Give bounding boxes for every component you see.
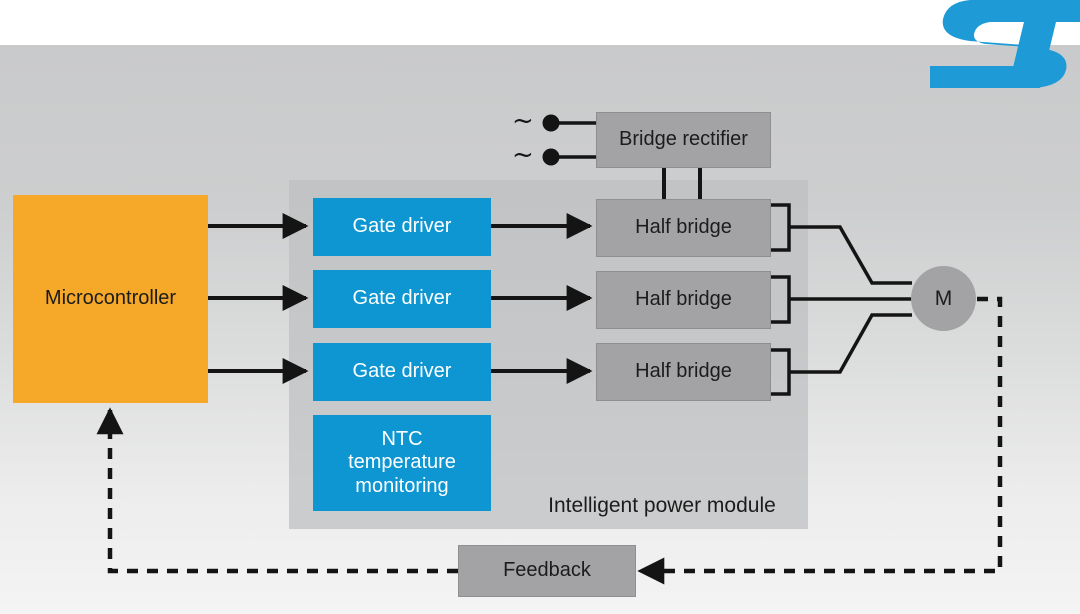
block-motor[interactable]: M [911,266,976,331]
block-motor-label: M [935,287,953,311]
block-microcontroller[interactable]: Microcontroller [13,195,208,403]
block-half-bridge-2-label: Half bridge [635,288,732,312]
ac-line-2-symbol: ~ [512,142,534,168]
diagram-canvas: Intelligent power module [0,0,1080,614]
block-half-bridge-1[interactable]: Half bridge [596,199,771,257]
block-bridge-rectifier[interactable]: Bridge rectifier [596,112,771,168]
block-ntc-label-line3: monitoring [355,475,448,499]
block-gate-driver-1-label: Gate driver [353,215,452,239]
block-microcontroller-label: Microcontroller [45,287,176,311]
block-half-bridge-1-label: Half bridge [635,216,732,240]
block-gate-driver-3[interactable]: Gate driver [313,343,491,401]
block-gate-driver-1[interactable]: Gate driver [313,198,491,256]
block-half-bridge-3-label: Half bridge [635,360,732,384]
block-bridge-rectifier-label: Bridge rectifier [619,128,748,152]
block-half-bridge-3[interactable]: Half bridge [596,343,771,401]
block-feedback[interactable]: Feedback [458,545,636,597]
block-half-bridge-2[interactable]: Half bridge [596,271,771,329]
block-ntc-label-line1: NTC [381,428,422,452]
block-ntc-label-line2: temperature [348,451,456,475]
block-gate-driver-2[interactable]: Gate driver [313,270,491,328]
block-feedback-label: Feedback [503,559,591,583]
intelligent-power-module-label: Intelligent power module [527,494,797,518]
header-white-band [0,0,1080,45]
st-logo [930,0,1080,90]
block-ntc-temperature-monitoring[interactable]: NTC temperature monitoring [313,415,491,511]
ac-line-1-symbol: ~ [512,108,534,134]
block-gate-driver-3-label: Gate driver [353,360,452,384]
block-gate-driver-2-label: Gate driver [353,287,452,311]
